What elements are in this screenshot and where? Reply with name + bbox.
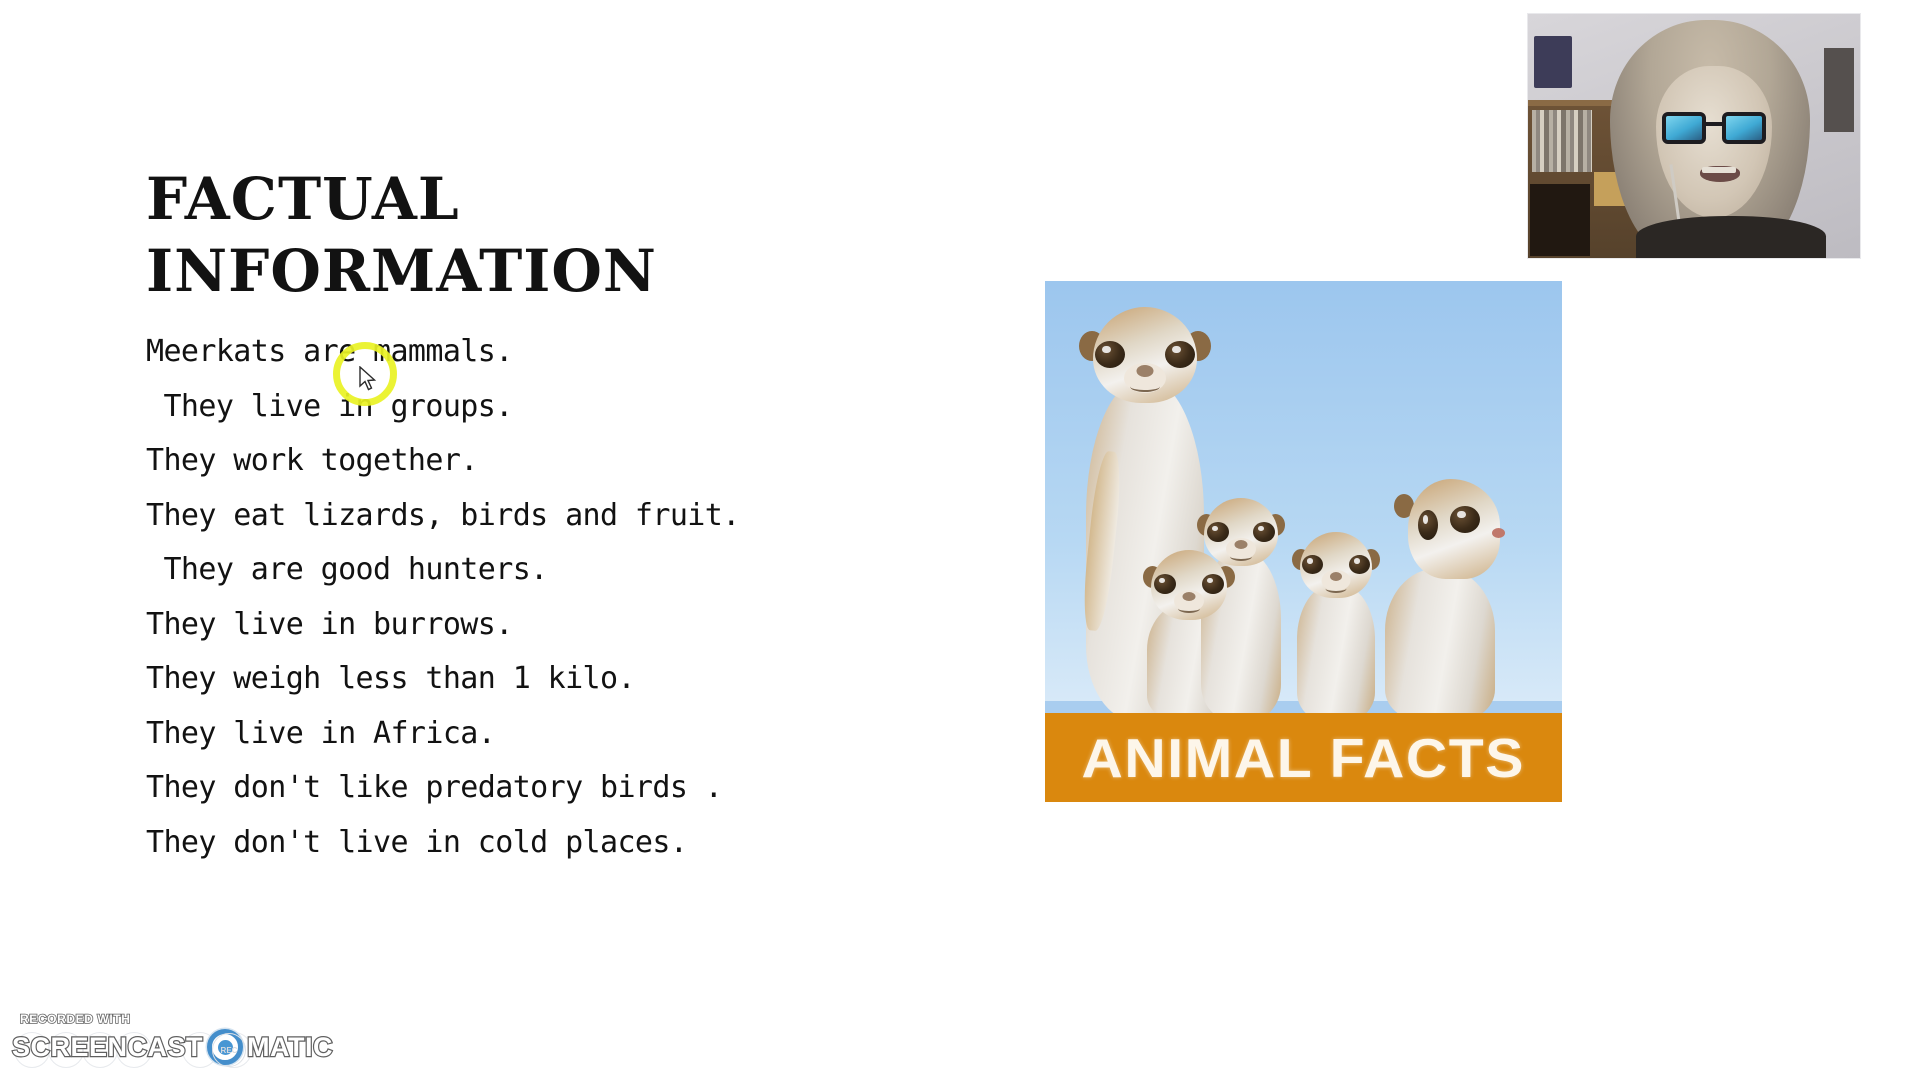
presenter-shoulders — [1636, 216, 1826, 258]
fact-line: They don't like predatory birds . — [146, 761, 846, 816]
fact-line: Meerkats are mammals. — [146, 325, 846, 380]
banner-label: ANIMAL FACTS — [1082, 726, 1525, 790]
meerkat-figure — [1290, 529, 1382, 721]
meerkat-family-photo: ANIMAL FACTS — [1045, 281, 1562, 802]
watermark-recorded-with-label: RECORDED WITH — [20, 1012, 130, 1026]
webcam-wall-frame — [1824, 48, 1854, 132]
watermark-wordmark: SCREENCAST MATIC — [12, 1029, 333, 1065]
fact-line: They eat lizards, birds and fruit. — [146, 489, 846, 544]
fact-line: They weigh less than 1 kilo. — [146, 652, 846, 707]
meerkat-figure — [1380, 476, 1500, 722]
fact-line: They don't live in cold places. — [146, 816, 846, 871]
presenter-webcam-overlay[interactable] — [1528, 14, 1860, 258]
webcam-shelf-shadow — [1530, 184, 1590, 256]
fact-line: They live in groups. — [146, 380, 846, 435]
fact-line: They work together. — [146, 434, 846, 489]
watermark-matic-label: MATIC — [247, 1032, 333, 1063]
slide-canvas: FACTUAL INFORMATION Meerkats are mammals… — [0, 0, 1920, 1080]
fact-line: They are good hunters. — [146, 543, 846, 598]
presenter-mouth — [1700, 166, 1740, 182]
fact-line: They live in burrows. — [146, 598, 846, 653]
page-title: FACTUAL INFORMATION — [146, 163, 786, 307]
screencast-o-matic-watermark: RECORDED WITH SCREENCAST MATIC REC — [12, 1012, 282, 1074]
fact-list: Meerkats are mammals. They live in group… — [146, 325, 846, 870]
animal-facts-banner: ANIMAL FACTS — [1045, 713, 1562, 802]
webcam-shelf-box — [1534, 36, 1572, 88]
webcam-books — [1532, 110, 1592, 172]
fact-line: They live in Africa. — [146, 707, 846, 762]
presenter-glasses-icon — [1662, 112, 1766, 146]
watermark-screencast-label: SCREENCAST — [12, 1032, 203, 1063]
watermark-rec-badge: REC — [212, 1033, 246, 1067]
